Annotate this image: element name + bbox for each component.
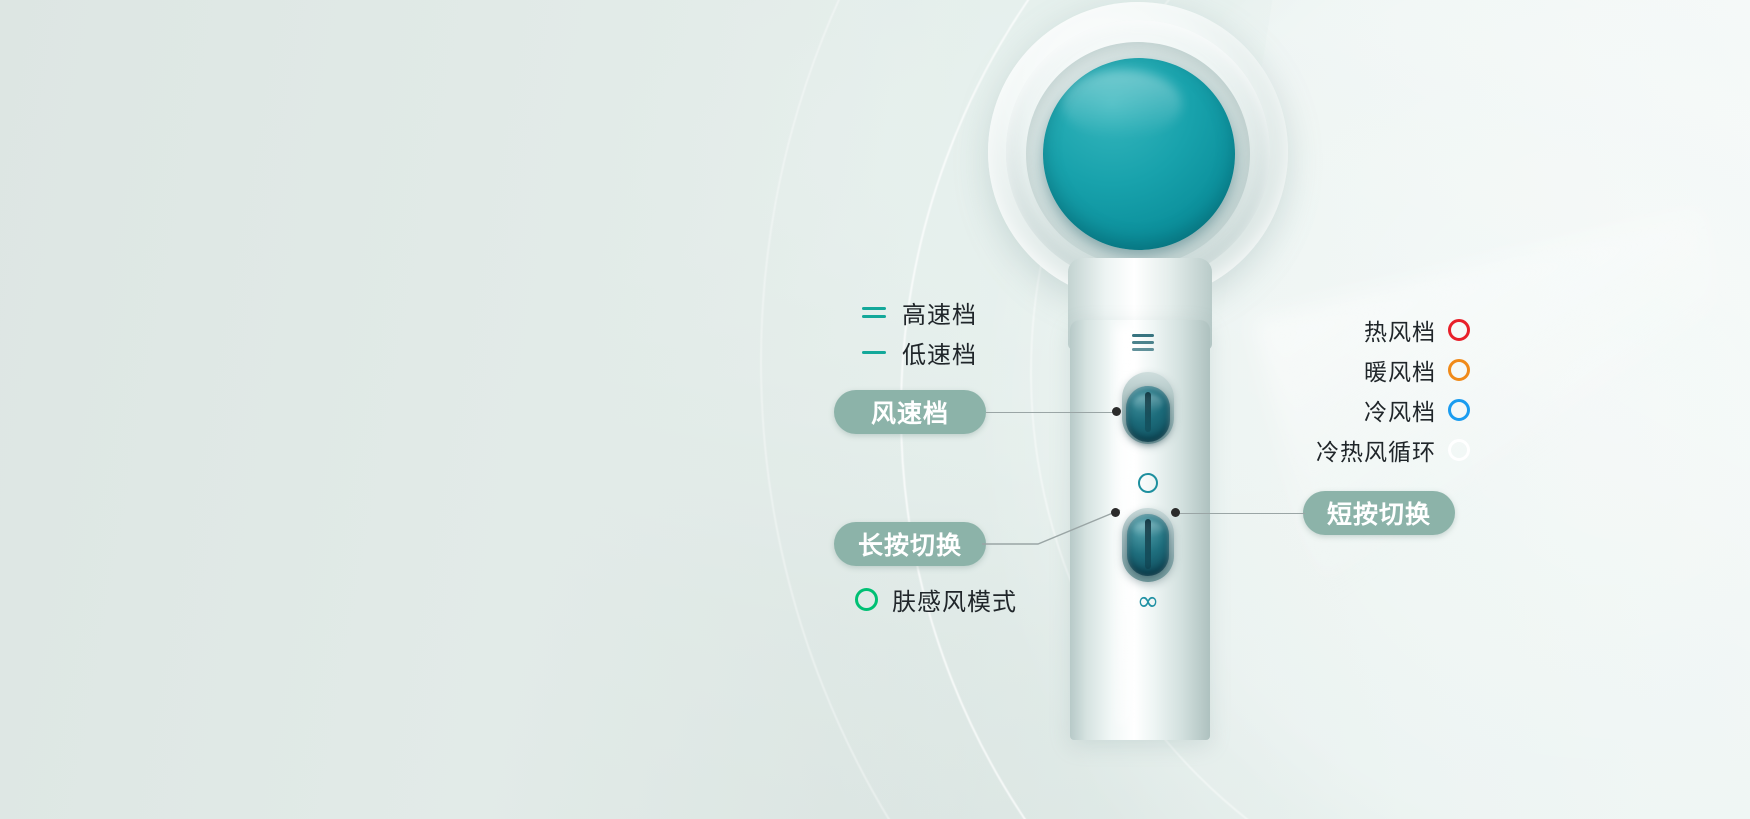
leader-dot-long-press (1111, 508, 1120, 517)
wind-legend-row-cool: 冷风档 (1290, 390, 1470, 430)
leader-line-speed (986, 412, 1116, 413)
callout-speed-pill[interactable]: 风速档 (834, 390, 986, 434)
skin-mode-label: 肤感风模式 (892, 582, 1017, 617)
speed-button[interactable] (1126, 386, 1170, 442)
skin-mode-ring-icon (855, 588, 878, 611)
wind-mode-legend: 热风档 暖风档 冷风档 冷热风循环 (1290, 310, 1470, 470)
high-speed-label: 高速档 (902, 295, 977, 330)
leader-dot-speed (1112, 407, 1121, 416)
low-speed-mark-icon (862, 351, 888, 354)
warm-wind-label: 暖风档 (1364, 353, 1436, 387)
speed-bars-icon (1132, 334, 1158, 356)
low-speed-label: 低速档 (902, 335, 977, 370)
cycle-wind-label: 冷热风循环 (1316, 433, 1436, 467)
wind-legend-row-warm: 暖风档 (1290, 350, 1470, 390)
leader-dot-short-press (1171, 508, 1180, 517)
skin-mode-legend: 肤感风模式 (855, 582, 1017, 617)
speed-legend-row-low: 低速档 (862, 332, 1082, 372)
callout-long-press-pill[interactable]: 长按切换 (834, 522, 986, 566)
cool-wind-ring-icon (1448, 399, 1470, 421)
leader-line-short-press (1175, 513, 1305, 514)
diagram-canvas: ∞ 高速档 低速档 风速档 长按切换 短按切换 热风档 (0, 0, 1750, 819)
high-speed-mark-icon (862, 307, 888, 318)
wind-legend-row-hot: 热风档 (1290, 310, 1470, 350)
hot-wind-label: 热风档 (1364, 313, 1436, 347)
wind-legend-row-cycle: 冷热风循环 (1290, 430, 1470, 470)
infinity-icon: ∞ (1130, 588, 1166, 615)
mode-button[interactable] (1127, 514, 1169, 576)
warm-wind-ring-icon (1448, 359, 1470, 381)
dryer-nozzle-highlight (1062, 70, 1182, 138)
cycle-wind-ring-icon (1448, 439, 1470, 461)
callout-short-press-pill[interactable]: 短按切换 (1303, 491, 1455, 535)
ring-icon (1138, 473, 1158, 493)
speed-legend: 高速档 低速档 (862, 292, 1082, 372)
speed-legend-row-high: 高速档 (862, 292, 1082, 332)
leader-line-long-press (980, 498, 1125, 556)
hot-wind-ring-icon (1448, 319, 1470, 341)
cool-wind-label: 冷风档 (1364, 393, 1436, 427)
